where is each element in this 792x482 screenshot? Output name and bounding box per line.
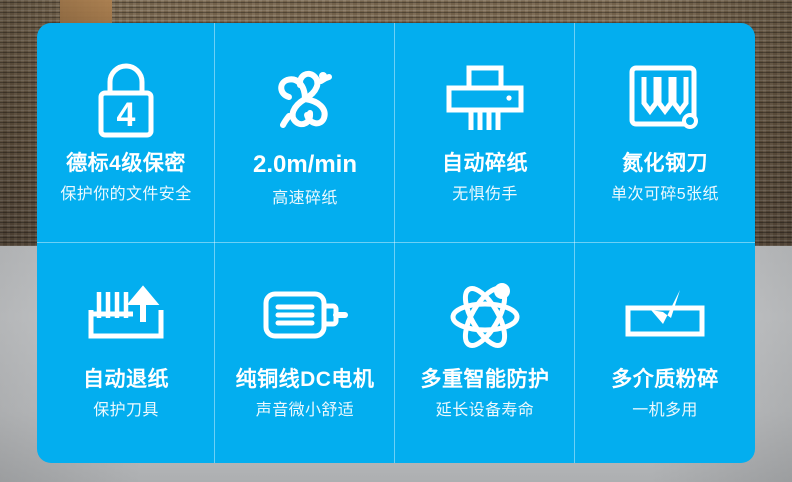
feature-title: 纯铜线DC电机 (236, 367, 375, 392)
feature-card-2: 2.0m/min 高速碎纸 (215, 23, 395, 243)
feature-card-4: 氮化钢刀 单次可碎5张纸 (575, 23, 755, 243)
feature-card-6: 纯铜线DC电机 声音微小舒适 (215, 243, 395, 463)
feature-title: 德标4级保密 (66, 151, 186, 176)
dc-motor-icon (261, 273, 349, 357)
feature-title: 多重智能防护 (421, 367, 550, 392)
steel-blades-icon (627, 57, 703, 141)
feature-grid-panel: 4 德标4级保密 保护你的文件安全 (37, 23, 755, 463)
feature-card-1: 4 德标4级保密 保护你的文件安全 (37, 23, 215, 243)
feature-subtitle: 单次可碎5张纸 (611, 185, 719, 204)
feature-title: 氮化钢刀 (622, 151, 708, 176)
feature-card-8: 多介质粉碎 一机多用 (575, 243, 755, 463)
paper-eject-arrow-icon (85, 273, 167, 357)
product-feature-banner: 4 德标4级保密 保护你的文件安全 (0, 0, 792, 482)
feature-subtitle: 无惧伤手 (452, 185, 518, 204)
lock-level4-icon: 4 (88, 57, 164, 141)
feature-title: 自动退纸 (83, 367, 169, 392)
feature-card-7: 多重智能防护 延长设备寿命 (395, 243, 575, 463)
fan-speed-icon (265, 57, 345, 141)
svg-text:4: 4 (117, 96, 136, 134)
feature-subtitle: 声音微小舒适 (256, 401, 354, 420)
feature-subtitle: 高速碎纸 (272, 189, 338, 208)
feature-title: 多介质粉碎 (611, 367, 719, 392)
feature-subtitle: 延长设备寿命 (436, 401, 534, 420)
feature-subtitle: 保护刀具 (93, 401, 159, 420)
feature-card-3: 自动碎纸 无惧伤手 (395, 23, 575, 243)
feature-card-5: 自动退纸 保护刀具 (37, 243, 215, 463)
feature-subtitle: 保护你的文件安全 (60, 185, 191, 204)
feature-subtitle: 一机多用 (632, 401, 698, 420)
shredder-icon (441, 57, 529, 141)
multi-media-slot-check-icon (623, 273, 707, 357)
feature-title: 2.0m/min (253, 151, 357, 180)
atom-protection-icon (445, 273, 525, 357)
feature-title: 自动碎纸 (442, 151, 528, 176)
